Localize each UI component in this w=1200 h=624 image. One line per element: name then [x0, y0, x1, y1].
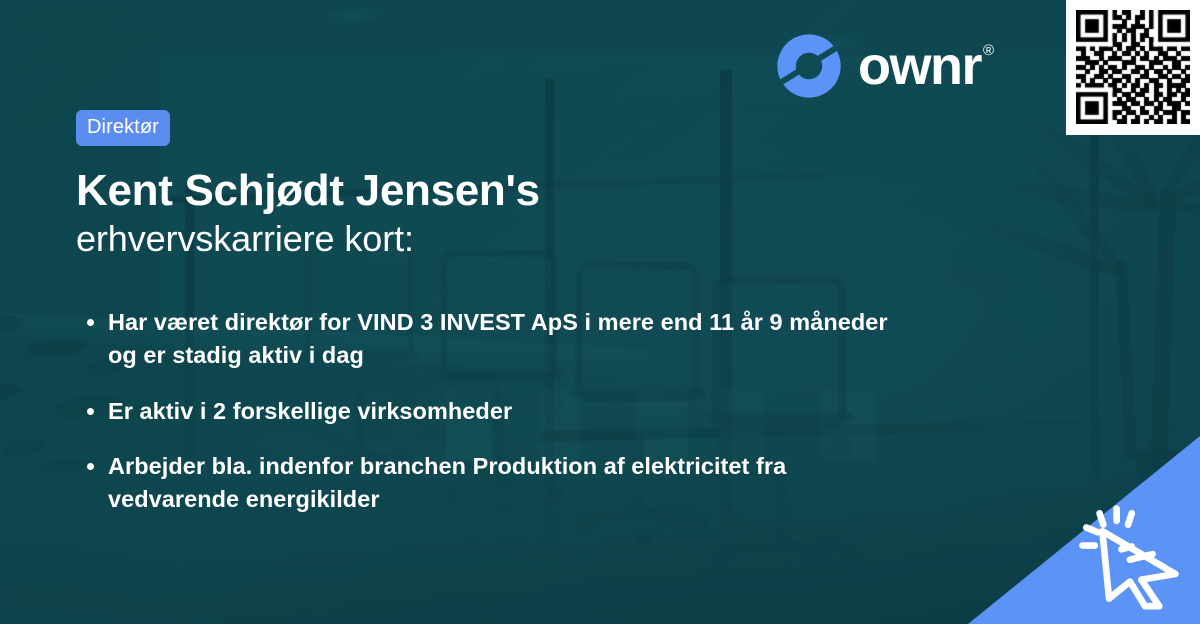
ownr-wordmark: ownr ®: [858, 39, 994, 93]
career-fact-item: Er aktiv i 2 forskellige virksomheder: [80, 395, 920, 428]
header-block: Direktør Kent Schjødt Jensen's erhvervsk…: [76, 110, 976, 260]
role-badge: Direktør: [76, 110, 170, 146]
qr-code-panel[interactable]: [1066, 0, 1200, 135]
ownr-circle-swoosh-icon: [776, 33, 842, 99]
qr-code-icon: [1076, 10, 1190, 124]
page-title: Kent Schjødt Jensen's: [76, 166, 976, 215]
brand-name: ownr: [858, 39, 981, 93]
career-fact-item: Har været direktør for VIND 3 INVEST ApS…: [80, 306, 920, 373]
click-cursor-icon: [1070, 500, 1186, 610]
career-facts-list: Har været direktør for VIND 3 INVEST ApS…: [80, 306, 920, 539]
career-card: ownr ® Direktør Kent Schjødt Jensen's er…: [0, 0, 1200, 624]
registered-trademark-icon: ®: [983, 43, 994, 58]
career-fact-item: Arbejder bla. indenfor branchen Produkti…: [80, 450, 920, 517]
ownr-logo[interactable]: ownr ®: [776, 33, 994, 99]
page-subtitle: erhvervskarriere kort:: [76, 217, 976, 260]
